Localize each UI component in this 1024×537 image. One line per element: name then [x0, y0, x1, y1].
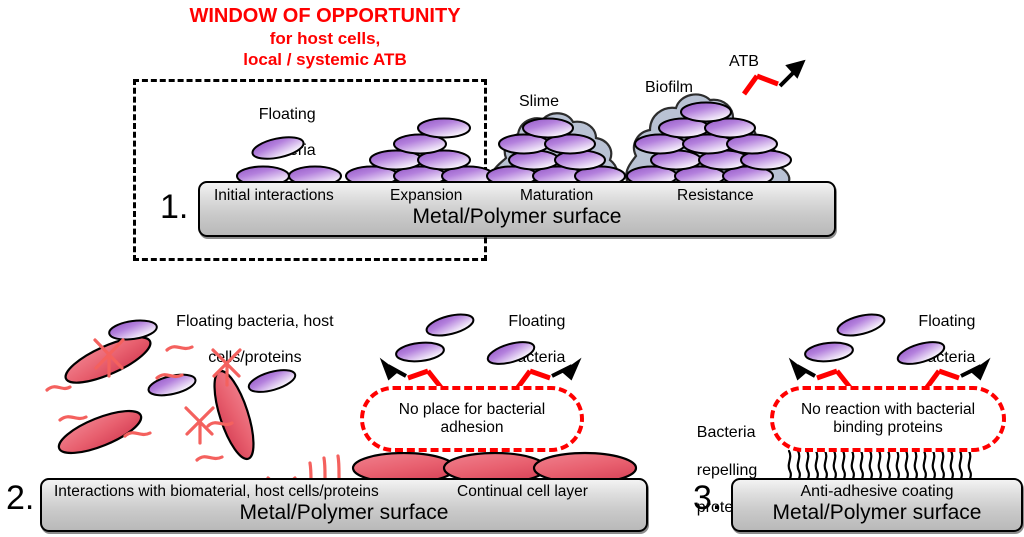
p3-callout-line-2: binding proteins: [833, 419, 942, 436]
floating-bacteria-panel-3: [804, 310, 946, 368]
panel-3-coating-label: Anti-adhesive coating: [733, 483, 1021, 501]
panel-3-surface-label: Metal/Polymer surface: [733, 501, 1021, 525]
panel-3-callout-box: No reaction with bacterial binding prote…: [770, 386, 1006, 452]
figure-canvas: WINDOW OF OPPORTUNITY for host cells, lo…: [0, 0, 1024, 532]
panel-3-graphics: [0, 0, 1024, 532]
panel-3-surface-bar: Anti-adhesive coating Metal/Polymer surf…: [731, 478, 1023, 532]
p3-callout-line-1: No reaction with bacterial: [801, 401, 975, 418]
